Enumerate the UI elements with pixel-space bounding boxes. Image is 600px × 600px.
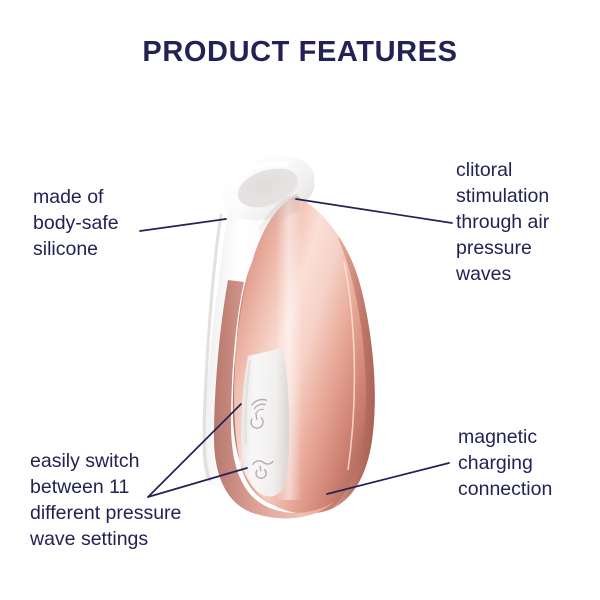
- callout-magnetic-charging: magnetic charging connection: [458, 424, 598, 502]
- callout-pressure-wave-settings: easily switch between 11 different press…: [30, 448, 230, 552]
- callout-silicone: made of body-safe silicone: [33, 184, 183, 262]
- product-features-infographic: PRODUCT FEATURES: [0, 0, 600, 600]
- callout-clitoral-stimulation: clitoral stimulation through air pressur…: [456, 157, 596, 287]
- control-panel: [241, 348, 289, 496]
